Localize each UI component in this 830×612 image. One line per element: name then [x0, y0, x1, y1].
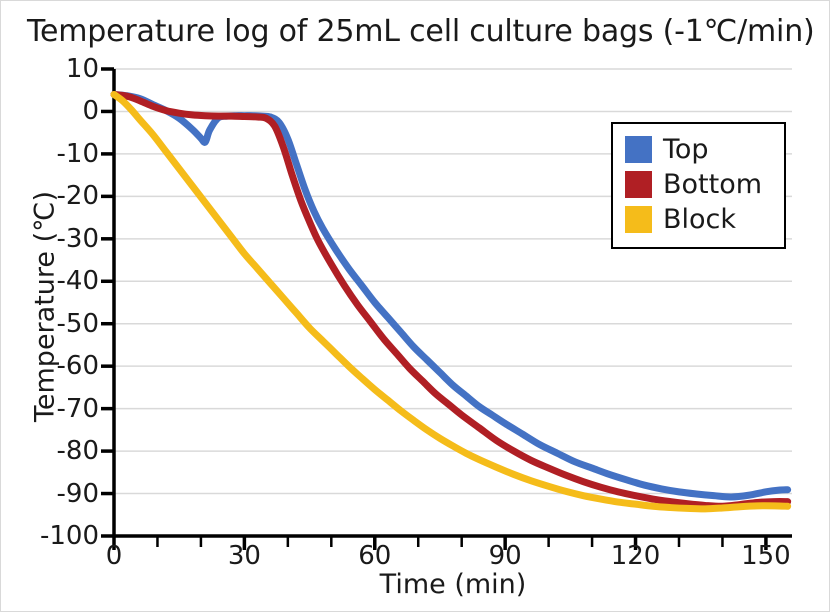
legend-swatch-icon	[625, 171, 652, 198]
x-tick-label: 90	[450, 541, 560, 571]
y-tick-label: -30	[0, 224, 99, 254]
y-tick-label: -70	[0, 394, 99, 424]
legend-item-block: Block	[625, 202, 762, 237]
x-tick-label: 30	[189, 541, 299, 571]
legend-label: Top	[663, 136, 709, 163]
y-tick-label: -90	[0, 479, 99, 509]
legend-swatch-icon	[625, 136, 652, 163]
legend-swatch-icon	[625, 206, 652, 233]
y-tick-label: 0	[0, 96, 99, 126]
legend: TopBottomBlock	[611, 122, 786, 249]
legend-item-top: Top	[625, 132, 762, 167]
plot-area	[1, 1, 830, 612]
y-tick-label: -50	[0, 309, 99, 339]
legend-label: Bottom	[663, 171, 762, 198]
y-tick-label: -40	[0, 266, 99, 296]
legend-item-bottom: Bottom	[625, 167, 762, 202]
x-tick-label: 60	[320, 541, 430, 571]
x-tick-label: 120	[581, 541, 691, 571]
x-tick-label: 150	[711, 541, 821, 571]
y-tick-label: -20	[0, 181, 99, 211]
x-tick-label: 0	[59, 541, 169, 571]
y-tick-label: -10	[0, 139, 99, 169]
legend-label: Block	[663, 206, 736, 233]
chart-figure: Temperature log of 25mL cell culture bag…	[0, 0, 830, 612]
y-tick-label: 10	[0, 54, 99, 84]
y-tick-label: -80	[0, 436, 99, 466]
y-tick-label: -60	[0, 351, 99, 381]
